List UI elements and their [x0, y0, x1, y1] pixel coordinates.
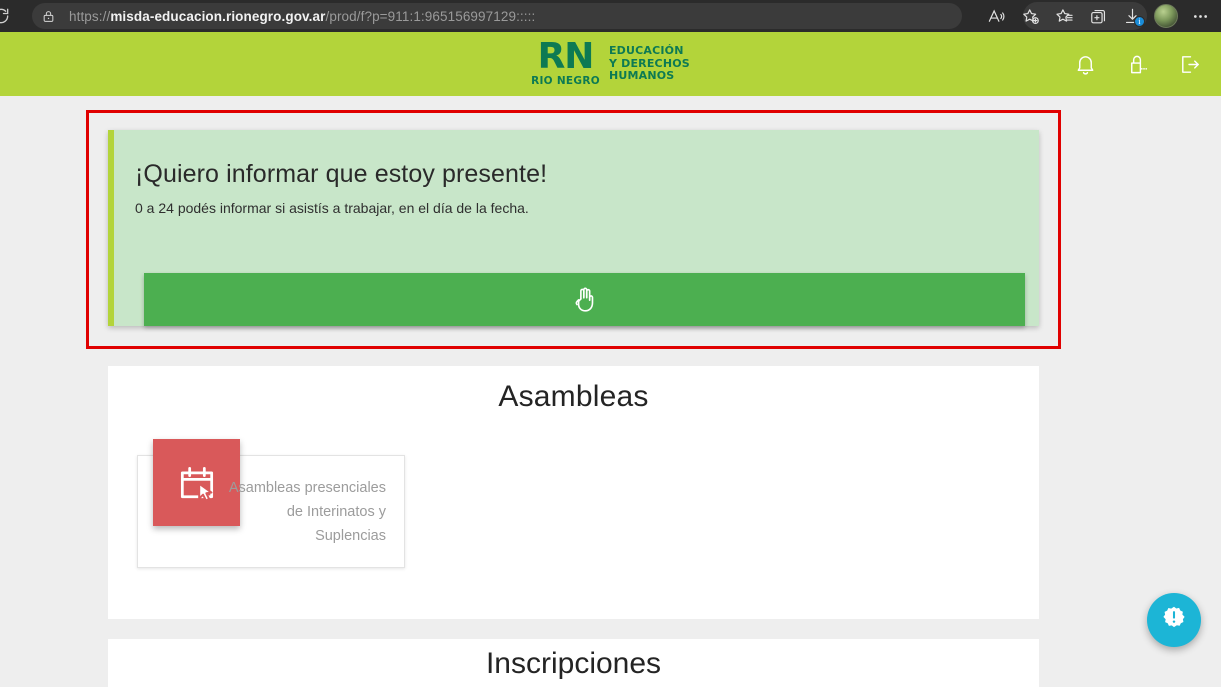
- asambleas-panel: Asambleas Asambleas presenciales de Inte…: [108, 366, 1039, 619]
- read-aloud-icon[interactable]: [979, 2, 1013, 30]
- add-favorite-icon[interactable]: [1013, 2, 1047, 30]
- url-scheme: https://: [69, 9, 110, 24]
- notifications-bell-icon[interactable]: [1071, 50, 1099, 78]
- asambleas-heading: Asambleas: [108, 380, 1039, 414]
- logo-mark: RN: [538, 41, 594, 73]
- logo-mark-block: RN RIO NEGRO: [531, 41, 600, 87]
- report-presence-button[interactable]: [144, 273, 1025, 326]
- logo-department: EDUCACIÓN Y DERECHOS HUMANOS: [609, 45, 690, 83]
- logo-province: RIO NEGRO: [531, 75, 600, 87]
- browser-chrome: https://misda-educacion.rionegro.gov.ar/…: [0, 0, 1221, 32]
- logo-department-line1: EDUCACIÓN: [609, 45, 690, 58]
- downloads-icon[interactable]: i: [1115, 2, 1149, 30]
- inscripciones-panel: Inscripciones: [108, 639, 1039, 687]
- asambleas-tile-label: Asambleas presenciales de Interinatos y …: [216, 476, 386, 548]
- alert-badge-icon: [1161, 605, 1187, 636]
- help-alert-fab[interactable]: [1147, 593, 1201, 647]
- avatar[interactable]: [1154, 4, 1178, 28]
- profile-avatar[interactable]: [1149, 2, 1183, 30]
- url-text[interactable]: https://misda-educacion.rionegro.gov.ar/…: [69, 9, 535, 24]
- site-logo[interactable]: RN RIO NEGRO EDUCACIÓN Y DERECHOS HUMANO…: [531, 41, 690, 87]
- logout-icon[interactable]: [1175, 50, 1203, 78]
- site-lock-icon[interactable]: [42, 9, 55, 24]
- header-icon-group: [1071, 32, 1203, 96]
- reload-icon[interactable]: [0, 0, 18, 32]
- page-content: ¡Quiero informar que estoy presente! 0 a…: [0, 96, 1221, 687]
- download-badge: i: [1134, 16, 1145, 27]
- favorites-icon[interactable]: [1047, 2, 1081, 30]
- address-bar[interactable]: https://misda-educacion.rionegro.gov.ar/…: [32, 3, 962, 29]
- raised-hand-icon: [572, 285, 598, 315]
- presence-card: ¡Quiero informar que estoy presente! 0 a…: [108, 130, 1039, 326]
- logo-department-line3: HUMANOS: [609, 70, 690, 83]
- presence-subtitle: 0 a 24 podés informar si asistís a traba…: [135, 200, 1039, 216]
- url-host: misda-educacion.rionegro.gov.ar: [110, 9, 325, 24]
- asambleas-tile[interactable]: Asambleas presenciales de Interinatos y …: [137, 455, 405, 568]
- app-header: RN RIO NEGRO EDUCACIÓN Y DERECHOS HUMANO…: [0, 32, 1221, 96]
- browser-toolbar: i: [979, 0, 1217, 32]
- collections-icon[interactable]: [1081, 2, 1115, 30]
- inscripciones-heading: Inscripciones: [108, 647, 1039, 681]
- presence-title: ¡Quiero informar que estoy presente!: [135, 160, 1039, 189]
- url-path: /prod/f?p=911:1:965156997129:::::: [325, 9, 535, 24]
- password-lock-icon[interactable]: [1123, 50, 1151, 78]
- settings-more-icon[interactable]: [1183, 2, 1217, 30]
